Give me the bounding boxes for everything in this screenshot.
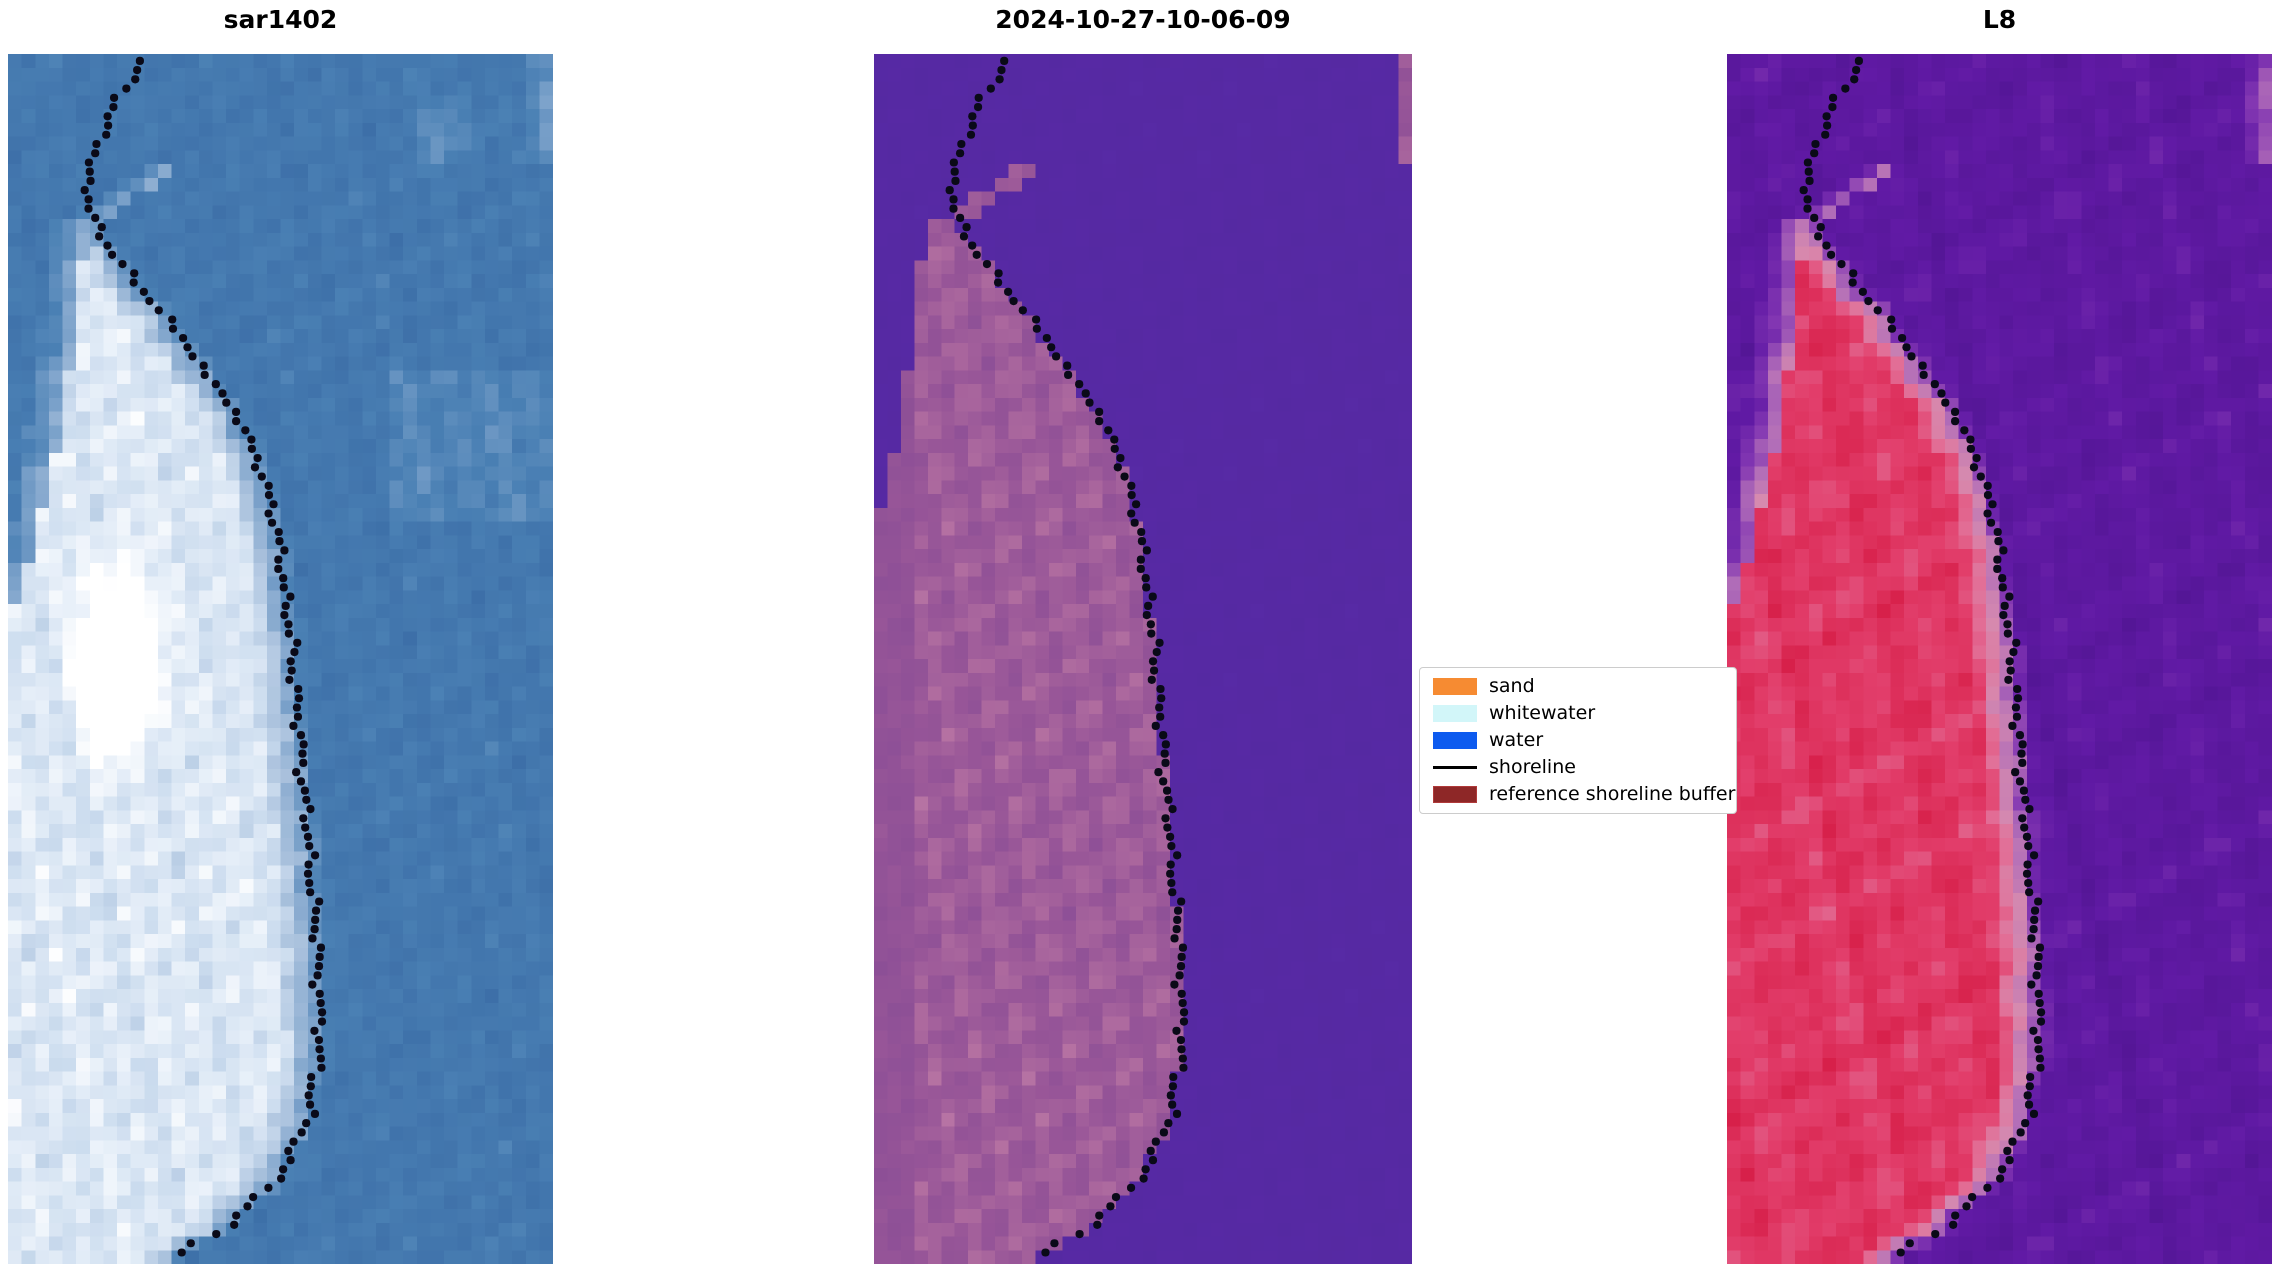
legend-item-label: sand xyxy=(1489,677,1535,696)
whitewater-swatch-icon xyxy=(1433,705,1477,722)
legend-item-water[interactable]: water xyxy=(1426,727,1730,754)
reference-buffer-swatch-icon xyxy=(1433,786,1477,803)
shoreline-overlay xyxy=(8,54,553,1264)
figure-canvas: sar1402 2024-10-27-10-06-09 L8 sand whit… xyxy=(0,0,2280,1283)
legend-item-label: shoreline xyxy=(1489,758,1576,777)
water-swatch-icon xyxy=(1433,732,1477,749)
legend-item-label: whitewater xyxy=(1489,704,1595,723)
panel-image-sar[interactable] xyxy=(8,54,553,1264)
shoreline-overlay xyxy=(1727,54,2272,1264)
legend: sand whitewater water shoreline referenc… xyxy=(1419,667,1737,814)
panel-image-classification[interactable] xyxy=(874,54,1412,1264)
legend-item-whitewater[interactable]: whitewater xyxy=(1426,700,1730,727)
legend-item-label: reference shoreline buffer xyxy=(1489,785,1735,804)
shoreline-overlay xyxy=(874,54,1412,1264)
panel-image-l8[interactable] xyxy=(1727,54,2272,1264)
panel-title-l8: L8 xyxy=(1727,5,2272,35)
legend-item-label: water xyxy=(1489,731,1543,750)
legend-item-reference-shoreline-buffer[interactable]: reference shoreline buffer xyxy=(1426,781,1730,808)
panel-title-sar: sar1402 xyxy=(8,5,553,35)
sand-swatch-icon xyxy=(1433,678,1477,695)
legend-clip: sand whitewater water shoreline referenc… xyxy=(1419,667,1749,826)
panel-title-classification: 2024-10-27-10-06-09 xyxy=(820,5,1466,35)
shoreline-line-icon xyxy=(1433,759,1477,776)
legend-item-shoreline[interactable]: shoreline xyxy=(1426,754,1730,781)
legend-item-sand[interactable]: sand xyxy=(1426,673,1730,700)
